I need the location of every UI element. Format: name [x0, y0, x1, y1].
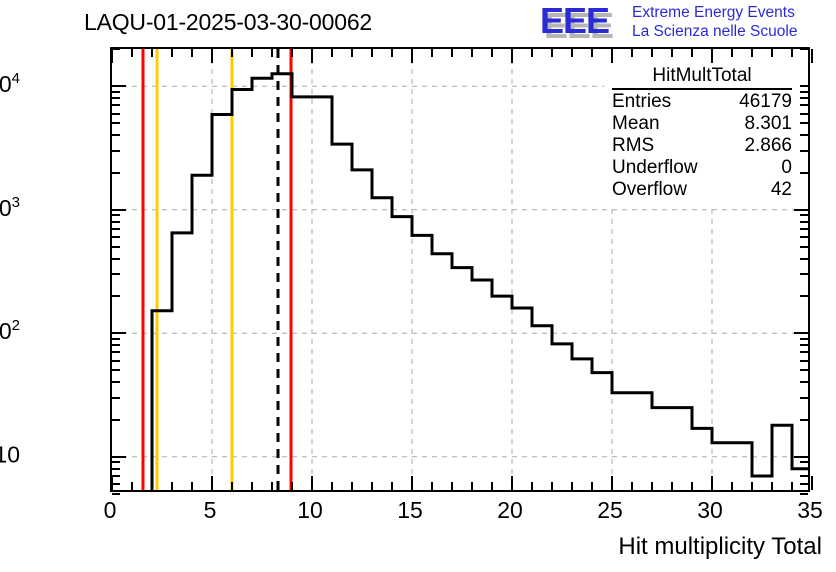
stats-key: Overflow — [612, 179, 687, 201]
x-tick-bottom-32 — [751, 482, 753, 490]
x-tick-top-2 — [151, 49, 153, 57]
y-tick-minor-left-7000 — [112, 104, 120, 106]
x-tick-top-29 — [691, 49, 693, 57]
x-tick-bottom-20 — [511, 476, 513, 490]
x-tick-top-32 — [751, 49, 753, 57]
x-tick-bottom-14 — [391, 482, 393, 490]
x-tick-bottom-13 — [371, 482, 373, 490]
x-tick-top-8 — [271, 49, 273, 57]
x-tick-top-12 — [351, 49, 353, 57]
x-tick-bottom-31 — [731, 482, 733, 490]
x-tick-top-0 — [111, 49, 113, 63]
x-axis-title: Hit multiplicity Total — [618, 533, 822, 561]
y-tick-minor-left-800 — [112, 221, 120, 223]
x-tick-bottom-34 — [791, 482, 793, 490]
x-tick-label-0: 0 — [104, 497, 117, 524]
y-tick-minor-left-200 — [112, 295, 120, 297]
x-tick-bottom-28 — [671, 482, 673, 490]
stats-title: HitMultTotal — [612, 65, 792, 90]
eee-logo-text: Extreme Energy Events La Scienza nelle S… — [632, 3, 797, 41]
y-tick-minor-right-90 — [800, 338, 808, 340]
x-tick-bottom-19 — [491, 482, 493, 490]
y-tick-minor-left-2000 — [112, 172, 120, 174]
y-tick-right-1000 — [794, 209, 808, 211]
x-tick-bottom-33 — [771, 482, 773, 490]
stats-row: Entries46179 — [612, 91, 792, 113]
x-tick-label-35: 35 — [797, 497, 823, 524]
y-tick-minor-left-9000 — [112, 91, 120, 93]
x-tick-bottom-2 — [151, 482, 153, 490]
y-tick-minor-right-20 — [800, 419, 808, 421]
x-tick-top-28 — [671, 49, 673, 57]
y-tick-minor-right-60 — [800, 360, 808, 362]
y-tick-right-100 — [794, 332, 808, 334]
y-tick-minor-left-6 — [112, 483, 120, 485]
x-tick-label-25: 25 — [597, 497, 623, 524]
x-tick-top-24 — [591, 49, 593, 57]
stats-box: HitMultTotal Entries46179Mean8.301RMS2.8… — [604, 63, 800, 205]
y-tick-minor-right-5 — [800, 493, 808, 495]
x-tick-top-30 — [711, 49, 713, 63]
y-tick-minor-right-3000 — [800, 150, 808, 152]
y-tick-minor-left-80 — [112, 344, 120, 346]
x-tick-bottom-29 — [691, 482, 693, 490]
x-tick-bottom-30 — [711, 476, 713, 490]
y-tick-minor-left-700 — [112, 228, 120, 230]
y-tick-left-100 — [112, 332, 126, 334]
y-tick-minor-right-500 — [800, 246, 808, 248]
stats-value: 8.301 — [744, 113, 792, 135]
y-tick-minor-left-8000 — [112, 97, 120, 99]
y-tick-minor-left-90 — [112, 338, 120, 340]
y-tick-minor-right-6000 — [800, 113, 808, 115]
y-tick-minor-left-300 — [112, 273, 120, 275]
x-tick-top-9 — [291, 49, 293, 57]
x-tick-top-35 — [811, 49, 813, 63]
stats-value: 42 — [771, 179, 792, 201]
y-tick-minor-right-9 — [800, 461, 808, 463]
x-tick-top-27 — [651, 49, 653, 57]
x-tick-top-14 — [391, 49, 393, 57]
x-tick-top-6 — [231, 49, 233, 57]
y-tick-minor-right-200 — [800, 295, 808, 297]
stats-key: RMS — [612, 135, 654, 157]
x-tick-bottom-12 — [351, 482, 353, 490]
y-tick-minor-right-700 — [800, 228, 808, 230]
x-tick-top-11 — [331, 49, 333, 57]
y-tick-minor-right-800 — [800, 221, 808, 223]
x-tick-top-21 — [531, 49, 533, 57]
y-tick-left-10000 — [112, 85, 126, 87]
x-tick-bottom-15 — [411, 476, 413, 490]
stats-rows: Entries46179Mean8.301RMS2.866Underflow0O… — [612, 91, 792, 201]
stats-value: 0 — [781, 157, 792, 179]
y-tick-minor-left-40 — [112, 381, 120, 383]
y-tick-minor-left-70 — [112, 351, 120, 353]
y-tick-minor-left-20 — [112, 419, 120, 421]
x-tick-bottom-4 — [191, 482, 193, 490]
y-tick-left-1000 — [112, 209, 126, 211]
x-tick-bottom-3 — [171, 482, 173, 490]
stats-key: Mean — [612, 113, 660, 135]
y-tick-minor-right-8000 — [800, 97, 808, 99]
x-tick-bottom-24 — [591, 482, 593, 490]
x-tick-top-10 — [311, 49, 313, 63]
x-tick-bottom-17 — [451, 482, 453, 490]
y-tick-minor-right-50 — [800, 369, 808, 371]
x-tick-top-15 — [411, 49, 413, 63]
stats-key: Entries — [612, 91, 671, 113]
x-tick-top-7 — [251, 49, 253, 57]
y-tick-minor-right-900 — [800, 214, 808, 216]
x-tick-top-22 — [551, 49, 553, 57]
x-tick-bottom-18 — [471, 482, 473, 490]
y-tick-minor-left-9 — [112, 461, 120, 463]
y-tick-minor-right-300 — [800, 273, 808, 275]
y-tick-right-10 — [794, 456, 808, 458]
stats-value: 46179 — [739, 91, 792, 113]
x-tick-top-5 — [211, 49, 213, 63]
x-tick-bottom-26 — [631, 482, 633, 490]
x-tick-label-10: 10 — [297, 497, 323, 524]
x-tick-bottom-21 — [531, 482, 533, 490]
y-tick-minor-right-2000 — [800, 172, 808, 174]
x-tick-top-13 — [371, 49, 373, 57]
x-tick-bottom-10 — [311, 476, 313, 490]
root-canvas: LAQU-01-2025-03-30-00062 EEE EEE Extreme… — [0, 0, 836, 572]
x-tick-top-17 — [451, 49, 453, 57]
x-tick-top-33 — [771, 49, 773, 57]
x-tick-bottom-11 — [331, 482, 333, 490]
x-tick-bottom-35 — [811, 476, 813, 490]
y-tick-minor-right-20000 — [800, 48, 808, 50]
y-tick-minor-right-4000 — [800, 134, 808, 136]
x-tick-label-15: 15 — [397, 497, 423, 524]
x-tick-label-20: 20 — [497, 497, 523, 524]
y-tick-minor-right-7 — [800, 475, 808, 477]
x-tick-top-34 — [791, 49, 793, 57]
y-tick-minor-right-400 — [800, 258, 808, 260]
stats-value: 2.866 — [744, 135, 792, 157]
x-tick-bottom-7 — [251, 482, 253, 490]
y-tick-minor-left-5000 — [112, 122, 120, 124]
y-tick-minor-right-40 — [800, 381, 808, 383]
y-tick-minor-left-50 — [112, 369, 120, 371]
y-tick-minor-right-6 — [800, 483, 808, 485]
y-tick-minor-right-5000 — [800, 122, 808, 124]
x-tick-top-19 — [491, 49, 493, 57]
x-tick-top-26 — [631, 49, 633, 57]
x-tick-label-30: 30 — [697, 497, 723, 524]
stats-row: Mean8.301 — [612, 113, 792, 135]
y-tick-label-10: 10 — [0, 441, 20, 468]
y-tick-minor-right-9000 — [800, 91, 808, 93]
x-tick-bottom-27 — [651, 482, 653, 490]
y-tick-minor-right-8 — [800, 468, 808, 470]
x-tick-bottom-5 — [211, 476, 213, 490]
y-tick-minor-left-3000 — [112, 150, 120, 152]
x-tick-top-23 — [571, 49, 573, 57]
eee-logo-mark: EEE — [540, 3, 609, 39]
page-title: LAQU-01-2025-03-30-00062 — [84, 9, 372, 36]
y-tick-minor-right-70 — [800, 351, 808, 353]
y-tick-minor-right-600 — [800, 236, 808, 238]
y-tick-label-10-3: 103 — [0, 194, 20, 222]
x-tick-bottom-16 — [431, 482, 433, 490]
y-tick-minor-left-400 — [112, 258, 120, 260]
y-tick-minor-right-30 — [800, 397, 808, 399]
y-tick-minor-left-20000 — [112, 48, 120, 50]
x-tick-top-31 — [731, 49, 733, 57]
x-tick-bottom-8 — [271, 482, 273, 490]
stats-row: Underflow0 — [612, 157, 792, 179]
y-tick-minor-left-60 — [112, 360, 120, 362]
y-tick-minor-left-4000 — [112, 134, 120, 136]
y-tick-minor-left-6000 — [112, 113, 120, 115]
y-tick-label-10-2: 102 — [0, 317, 20, 345]
x-tick-top-1 — [131, 49, 133, 57]
y-tick-label-10-4: 104 — [0, 70, 20, 98]
eee-logo-line2: La Scienza nelle Scuole — [632, 22, 797, 41]
x-tick-top-20 — [511, 49, 513, 63]
x-tick-top-25 — [611, 49, 613, 63]
x-tick-top-4 — [191, 49, 193, 57]
x-tick-bottom-6 — [231, 482, 233, 490]
y-tick-minor-left-8 — [112, 468, 120, 470]
stats-key: Underflow — [612, 157, 698, 179]
y-tick-minor-left-5 — [112, 493, 120, 495]
x-tick-top-18 — [471, 49, 473, 57]
x-tick-top-16 — [431, 49, 433, 57]
eee-logo-line1: Extreme Energy Events — [632, 3, 797, 22]
x-tick-bottom-25 — [611, 476, 613, 490]
y-tick-minor-left-30 — [112, 397, 120, 399]
stats-row: RMS2.866 — [612, 135, 792, 157]
x-tick-top-3 — [171, 49, 173, 57]
stats-row: Overflow42 — [612, 179, 792, 201]
x-tick-bottom-22 — [551, 482, 553, 490]
x-tick-label-5: 5 — [204, 497, 217, 524]
y-tick-minor-left-900 — [112, 214, 120, 216]
y-tick-minor-left-600 — [112, 236, 120, 238]
y-tick-left-10 — [112, 456, 126, 458]
y-tick-minor-left-500 — [112, 246, 120, 248]
y-tick-minor-right-80 — [800, 344, 808, 346]
y-tick-minor-left-7 — [112, 475, 120, 477]
x-tick-bottom-1 — [131, 482, 133, 490]
eee-logo: EEE EEE Extreme Energy Events La Scienza… — [540, 2, 832, 42]
x-tick-bottom-23 — [571, 482, 573, 490]
x-tick-bottom-9 — [291, 482, 293, 490]
y-tick-minor-right-7000 — [800, 104, 808, 106]
